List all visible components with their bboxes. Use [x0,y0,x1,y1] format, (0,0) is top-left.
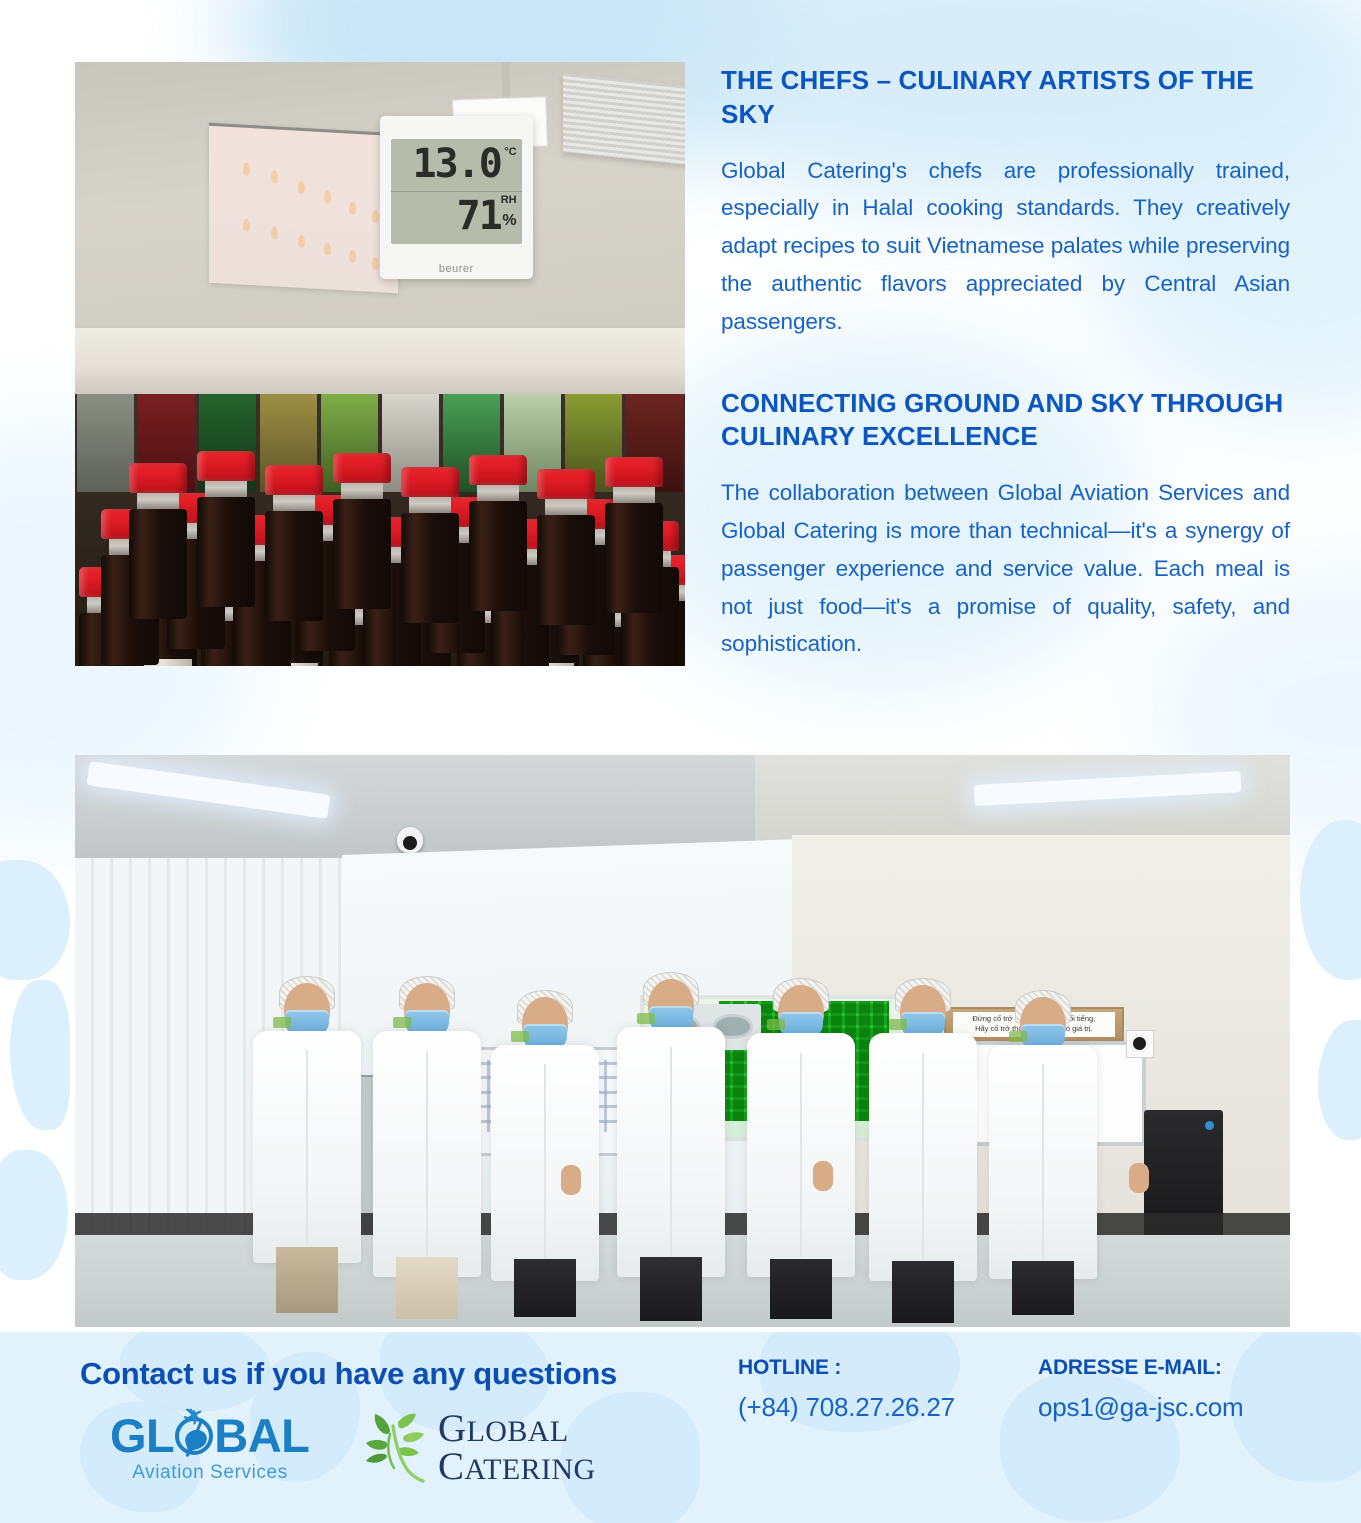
email-value[interactable]: ops1@ga-jsc.com [1038,1392,1243,1423]
section-heading-chefs: THE CHEFS – CULINARY ARTISTS OF THE SKY [721,64,1290,132]
sauce-bottle [333,453,391,609]
hotline-label: HOTLINE : [738,1356,955,1380]
security-camera-icon [397,827,423,853]
humidity-rh-label: RH [501,194,517,206]
thermo-hygrometer: 13.0 °C 71 RH % beurer [380,116,533,279]
hotline-value[interactable]: (+84) 708.27.26.27 [738,1392,955,1423]
hotline-block: HOTLINE : (+84) 708.27.26.27 [738,1356,955,1423]
ga-logo-word-part2: BAL [214,1412,309,1459]
temperature-unit: °C [504,146,516,158]
global-catering-logo: GGLOBALLOBAL CATERING [360,1410,596,1486]
logo-group: GL BAL ✈ Aviation Services [110,1410,596,1486]
sauce-bottle [469,455,527,611]
shelf-edge [75,328,685,394]
top-section: 13.0 °C 71 RH % beurer [75,62,1290,670]
section-heading-connecting: CONNECTING GROUND AND SKY THROUGH CULINA… [721,387,1290,455]
contact-heading: Contact us if you have any questions [80,1356,617,1392]
section-body-connecting: The collaboration between Global Aviatio… [721,474,1290,663]
humidity-unit: % [502,212,516,230]
footer: Contact us if you have any questions GL … [0,1332,1361,1523]
sauce-bottle [605,457,663,613]
sauce-bottle [401,467,459,623]
temperature-reading: 13.0 [413,141,501,187]
global-aviation-services-logo: GL BAL ✈ Aviation Services [110,1412,310,1484]
email-block: ADRESSE E-MAIL: ops1@ga-jsc.com [1038,1356,1243,1423]
ga-logo-word-part1: GL [110,1412,174,1459]
sauce-bottle [265,465,323,621]
storeroom-photo: 13.0 °C 71 RH % beurer [75,62,685,666]
team-photo: Đừng cố trở thành đầu bếp nổi tiếng, Hãy… [75,755,1290,1327]
no-photography-icon [1126,1030,1154,1058]
text-column: THE CHEFS – CULINARY ARTISTS OF THE SKY … [721,62,1290,670]
ga-logo-tagline: Aviation Services [110,1462,310,1484]
parsley-leaf-icon [360,1410,432,1486]
meter-brand-label: beurer [439,263,474,275]
humidity-reading: 71 [457,193,501,239]
email-label: ADRESSE E-MAIL: [1038,1356,1243,1380]
sauce-bottle [197,451,255,607]
wall-notice-board [209,123,398,294]
brochure-page: 13.0 °C 71 RH % beurer [0,0,1361,1523]
bottle-storage-area [75,394,685,666]
ceiling-vent [563,73,685,166]
sauce-bottle [129,463,187,619]
section-body-chefs: Global Catering's chefs are professional… [721,152,1290,341]
sauce-bottle [537,469,595,625]
